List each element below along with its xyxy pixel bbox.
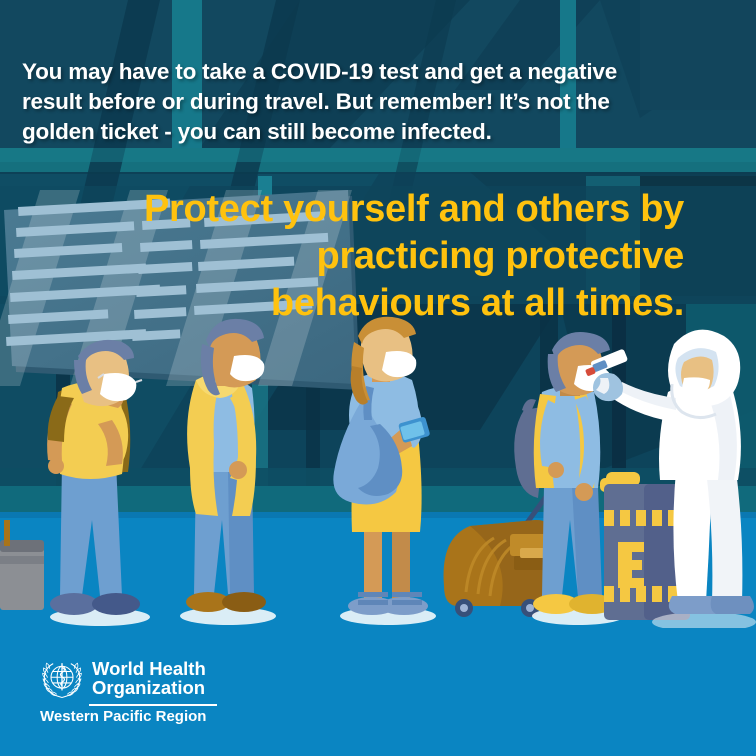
intro-paragraph: You may have to take a COVID-19 test and… (22, 57, 682, 147)
who-region-label: Western Pacific Region (40, 708, 217, 725)
who-wordmark: World Health Organization (92, 657, 206, 697)
who-logo-divider (89, 704, 217, 706)
who-logo: World Health Organization Western Pacifi… (40, 657, 217, 725)
headline-line-1: Protect yourself and others by (64, 186, 684, 233)
who-wordmark-line-2: Organization (92, 678, 206, 697)
who-wordmark-line-1: World Health (92, 659, 206, 678)
headline-line-3: behaviours at all times. (64, 280, 684, 327)
headline-block: Protect yourself and others by practicin… (64, 186, 684, 327)
headline-line-2: practicing protective (64, 233, 684, 280)
poster-canvas: You may have to take a COVID-19 test and… (0, 0, 756, 756)
who-emblem-icon (40, 657, 84, 701)
